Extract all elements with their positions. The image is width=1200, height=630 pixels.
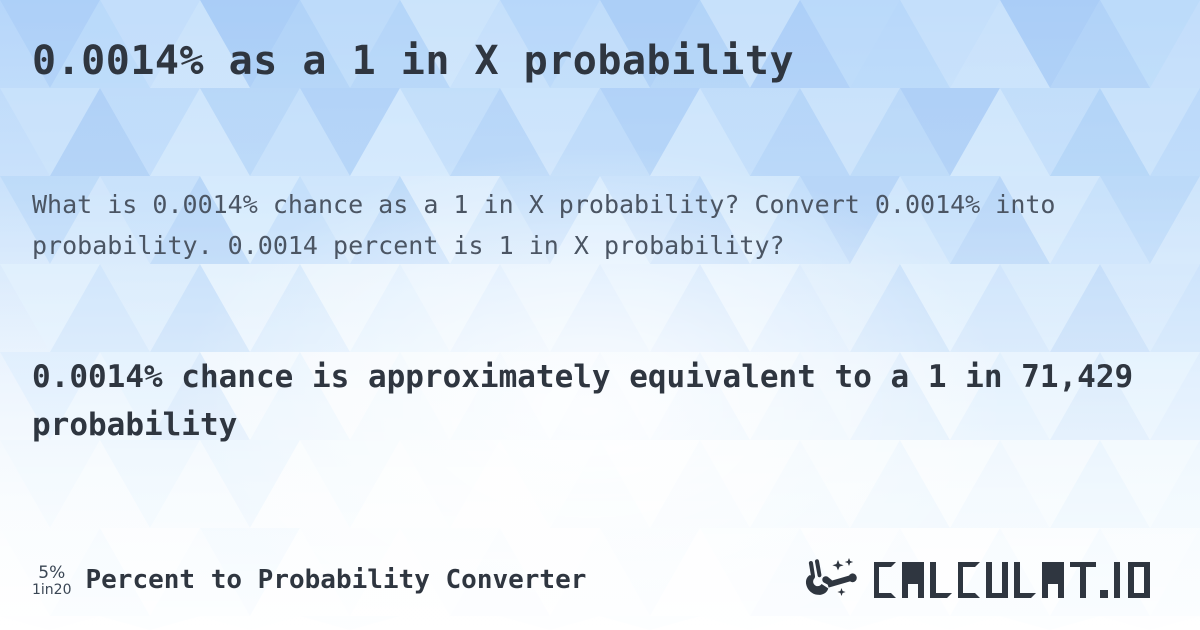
footer-tool-title: Percent to Probability Converter [85,565,586,595]
brand-logo[interactable] [804,556,1168,604]
badge-percent-label: 5% [38,565,65,583]
badge-odds-label: 1in20 [32,583,71,598]
footer-left-group: 5% 1in20 Percent to Probability Converte… [32,563,586,598]
calculatio-wordmark-icon [872,556,1168,604]
percent-to-odds-badge: 5% 1in20 [32,563,71,598]
hand-magic-wand-icon [804,557,866,603]
answer-statement: 0.0014% chance is approximately equivale… [32,353,1172,449]
share-card: 0.0014% as a 1 in X probability What is … [0,0,1200,630]
page-title: 0.0014% as a 1 in X probability [32,38,794,84]
page-description: What is 0.0014% chance as a 1 in X proba… [32,184,1092,266]
footer: 5% 1in20 Percent to Probability Converte… [0,530,1200,630]
logo-wordmark [872,556,1168,604]
